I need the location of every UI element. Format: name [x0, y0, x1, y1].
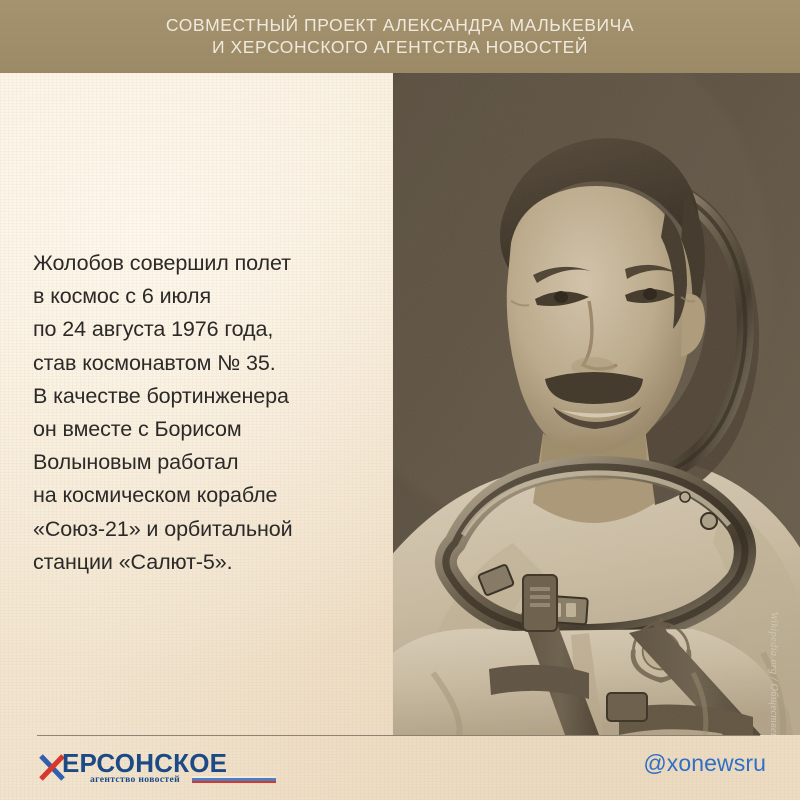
body-line: В качестве бортинженера — [33, 380, 383, 413]
body-line: в космос с 6 июля — [33, 280, 383, 313]
footer-divider — [37, 735, 760, 736]
logo-wordmark: ЕРСОНСКОЕ — [62, 750, 227, 776]
header-line-1: СОВМЕСТНЫЙ ПРОЕКТ АЛЕКСАНДРА МАЛЬКЕВИЧА — [166, 17, 634, 35]
body-line: Волыновым работал — [33, 446, 383, 479]
cosmonaut-photo: Wikipedia.org / Общественное достояние — [393, 73, 800, 735]
kherson-news-logo[interactable]: ЕРСОНСКОЕ агентство новостей — [38, 748, 298, 788]
tricolor-band-red — [192, 781, 276, 783]
cosmonaut-portrait-illustration — [393, 73, 800, 735]
body-line: он вместе с Борисом — [33, 413, 383, 446]
body-line: по 24 августа 1976 года, — [33, 313, 383, 346]
header-banner: СОВМЕСТНЫЙ ПРОЕКТ АЛЕКСАНДРА МАЛЬКЕВИЧА … — [0, 0, 800, 73]
header-line-2: И ХЕРСОНСКОГО АГЕНТСТВА НОВОСТЕЙ — [212, 39, 588, 57]
tricolor-bar — [192, 776, 276, 783]
body-line: на космическом корабле — [33, 479, 383, 512]
body-line: «Союз-21» и орбитальной — [33, 513, 383, 546]
body-line: станции «Салют-5». — [33, 546, 383, 579]
body-line: став космонавтом № 35. — [33, 347, 383, 380]
social-handle[interactable]: @xonewsru — [643, 752, 766, 775]
infographic-card: СОВМЕСТНЫЙ ПРОЕКТ АЛЕКСАНДРА МАЛЬКЕВИЧА … — [0, 0, 800, 800]
logo-subtitle: агентство новостей — [90, 775, 180, 785]
body-text-block: Жолобов совершил полет в космос с 6 июля… — [33, 247, 383, 579]
body-line: Жолобов совершил полет — [33, 247, 383, 280]
